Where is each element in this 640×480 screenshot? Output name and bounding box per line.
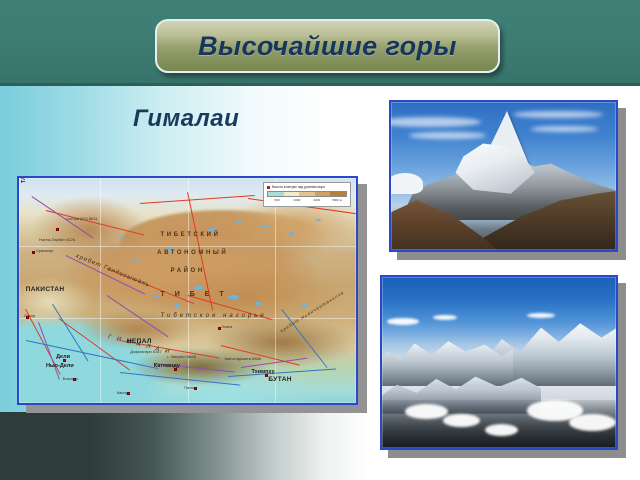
map-label-peak: г. Эверест 8848 [167,354,196,359]
page-title: Высочайшие горы [157,21,498,71]
map-city-dot [265,374,268,377]
legend-tick: 5000 м [327,198,347,202]
map-lake [120,237,124,239]
map-city-dot [32,251,35,254]
legend-swatch [268,192,284,196]
map-lake [289,232,294,235]
legend-swatch [299,192,315,196]
map-city-dot [56,228,59,231]
map-label-peak: Нанга-Парбат 8126 [39,237,75,242]
map-lake [134,259,139,262]
cloud-puff [485,424,518,436]
map-label-country: ТАДЖ. [21,178,27,183]
subtitle-text: Гималаи [133,105,239,133]
map-relief [32,196,147,264]
photo-aerial-range[interactable] [380,275,618,450]
map-city-dot [218,327,221,330]
map-lake [302,304,307,307]
map-city-dot [26,316,29,319]
map-legend-point-row: Высота в метрах над уровнем моря [267,185,347,189]
map-city-dot [127,392,130,395]
map-label-peak: Чогори (K2) 8611 [66,216,97,221]
map-label-city: Ныо-Дели [46,363,74,369]
map-graticule [100,178,101,403]
photo-sharp-peak[interactable] [389,100,618,252]
cloud-puff [527,313,555,318]
map-label-city: Тхимпху [252,369,275,375]
map-city-dot [63,359,66,362]
legend-city-dot-icon [267,186,270,189]
legend-swatch [284,192,300,196]
photo-snow-patch [389,173,423,194]
map-graticule [19,246,356,247]
map-lake [255,302,262,305]
map-label-city: Сринагар [36,248,54,253]
map-label-city: Лхаса [221,324,232,329]
cloud-wisp [409,132,486,139]
map-legend-scale [267,191,347,197]
map-label-country: БУТАН [268,376,292,383]
cloud-puff [569,414,616,431]
map-city-dot [194,387,197,390]
map-legend-ticks: 500 2000 4000 5000 м [267,198,347,202]
legend-tick: 2000 [287,198,307,202]
legend-tick: 500 [267,198,287,202]
map-label-region: Т И Б Е Т [161,291,228,298]
map-lake [154,295,159,298]
map-legend-point-label: Высота в метрах над уровнем моря [272,185,325,189]
map-lake [235,221,241,224]
map-label-region: АВТОНОМНЫЙ [157,250,228,256]
map-lake [316,219,321,221]
cloud-puff [405,404,447,419]
map-label-range: Тибетское нагорье [161,313,267,319]
map-image[interactable]: ТИБЕТСКИЙ АВТОНОМНЫЙ РАЙОН Т И Б Е Т Тиб… [17,176,358,405]
cloud-wisp [531,126,599,132]
map-city-dot [73,378,76,381]
map-lake [208,228,216,231]
title-banner: Высочайшие горы [155,19,500,73]
cloud-puff [387,318,420,325]
map-label-country: НЕПАЛ [127,338,152,345]
map-label-region: ТИБЕТСКИЙ [161,232,221,238]
legend-swatch [315,192,331,196]
map-label-country: ПАКИСТАН [26,286,65,293]
map-canvas: ТИБЕТСКИЙ АВТОНОМНЫЙ РАЙОН Т И Б Е Т Тиб… [19,178,356,403]
map-lake [174,304,180,307]
map-label-peak: Канченджанга 8586 [225,356,261,361]
map-lake [228,295,239,299]
map-label-region: РАЙОН [171,268,205,274]
map-legend: Высота в метрах над уровнем моря 500 200… [263,182,351,207]
map-label-city: Биканер [63,376,79,381]
map-city-dot [174,368,177,371]
cloud-puff [433,315,456,320]
header-divider [0,83,640,86]
map-label-peak: Дхаулагири 8167 [130,349,161,354]
slide-canvas: Высочайшие горы Гималаи [0,0,640,480]
legend-swatch [330,192,346,196]
map-graticule [275,178,276,403]
legend-tick: 4000 [307,198,327,202]
